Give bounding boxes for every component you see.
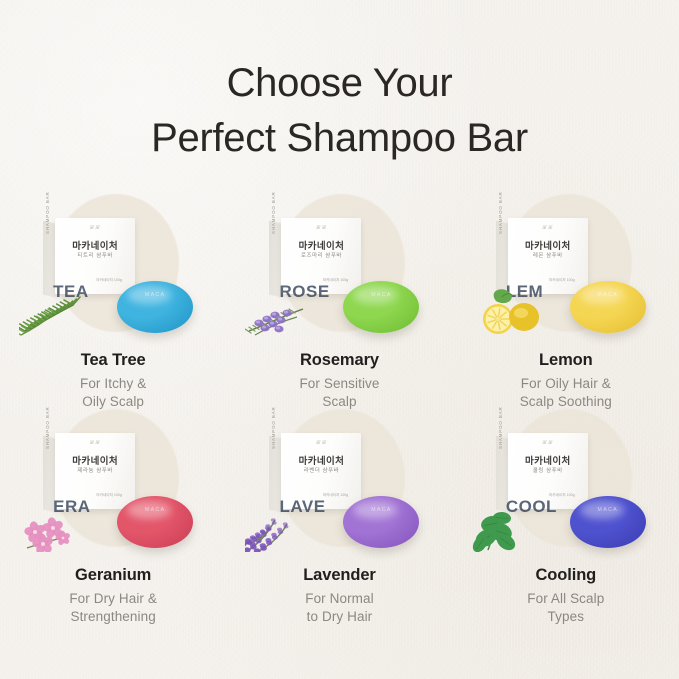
product-caption: Rosemary For Sensitive Scalp bbox=[239, 350, 439, 411]
product-name: Rosemary bbox=[239, 350, 439, 370]
soap-bar-emboss: MACA bbox=[570, 507, 646, 513]
box-variant-label: 레몬 샴푸바 bbox=[508, 251, 588, 259]
product-box: SHAMPOO BAR ꕤꕤ 마카네이처 쿨링 샴푸바 마카네이처 100g C… bbox=[496, 433, 588, 511]
box-variant-word: ERA bbox=[53, 497, 90, 517]
product-benefit-line-1: For Itchy & bbox=[13, 375, 213, 393]
box-info-block: 마카네이처 100g bbox=[92, 278, 126, 283]
brand-logo-mark: ꕤꕤ bbox=[55, 225, 135, 231]
product-image: SHAMPOO BAR ꕤꕤ 마카네이처 티트리 샴푸바 마카네이처 100g … bbox=[13, 200, 213, 341]
product-image: SHAMPOO BAR ꕤꕤ 마카네이처 레몬 샴푸바 마카네이처 100g L… bbox=[466, 200, 666, 341]
product-box: SHAMPOO BAR ꕤꕤ 마카네이처 레몬 샴푸바 마카네이처 100g L… bbox=[496, 218, 588, 296]
box-side-text: SHAMPOO BAR bbox=[271, 178, 276, 234]
product-tile-lemon[interactable]: SHAMPOO BAR ꕤꕤ 마카네이처 레몬 샴푸바 마카네이처 100g L… bbox=[453, 196, 679, 411]
brand-logo-mark: ꕤꕤ bbox=[281, 440, 361, 446]
product-benefit: For Sensitive Scalp bbox=[239, 375, 439, 411]
product-benefit-line-1: For Normal bbox=[239, 590, 439, 608]
soap-bar-emboss: MACA bbox=[343, 507, 419, 513]
box-side-text: SHAMPOO BAR bbox=[45, 178, 50, 234]
brand-name: 마카네이처 bbox=[508, 453, 588, 467]
soap-bar: MACA bbox=[343, 496, 419, 548]
box-variant-label: 쿨링 샴푸바 bbox=[508, 466, 588, 474]
product-box: SHAMPOO BAR ꕤꕤ 마카네이처 로즈마리 샴푸바 마카네이처 100g… bbox=[269, 218, 361, 296]
brand-name: 마카네이처 bbox=[508, 238, 588, 252]
brand-name: 마카네이처 bbox=[281, 238, 361, 252]
soap-bar: MACA bbox=[117, 281, 193, 333]
product-tile-tea-tree[interactable]: SHAMPOO BAR ꕤꕤ 마카네이처 티트리 샴푸바 마카네이처 100g … bbox=[0, 196, 226, 411]
box-side-text: SHAMPOO BAR bbox=[271, 393, 276, 449]
soap-bar: MACA bbox=[570, 496, 646, 548]
product-benefit: For Dry Hair & Strengthening bbox=[13, 590, 213, 626]
product-benefit-line-2: to Dry Hair bbox=[239, 608, 439, 626]
page-title-line-2: Perfect Shampoo Bar bbox=[0, 111, 679, 166]
soap-bar: MACA bbox=[117, 496, 193, 548]
product-name: Cooling bbox=[466, 565, 666, 585]
product-caption: Cooling For All Scalp Types bbox=[466, 565, 666, 626]
box-side-text: SHAMPOO BAR bbox=[498, 393, 503, 449]
product-box: SHAMPOO BAR ꕤꕤ 마카네이처 티트리 샴푸바 마카네이처 100g … bbox=[43, 218, 135, 296]
box-variant-word: LAVE bbox=[279, 497, 325, 517]
soap-bar-emboss: MACA bbox=[117, 292, 193, 298]
product-box: SHAMPOO BAR ꕤꕤ 마카네이처 라벤더 샴푸바 마카네이처 100g … bbox=[269, 433, 361, 511]
box-variant-word: TEA bbox=[53, 282, 89, 302]
box-variant-word: ROSE bbox=[279, 282, 329, 302]
product-tile-geranium[interactable]: SHAMPOO BAR ꕤꕤ 마카네이처 제라늄 샴푸바 마카네이처 100g … bbox=[0, 411, 226, 626]
product-tile-lavender[interactable]: SHAMPOO BAR ꕤꕤ 마카네이처 라벤더 샴푸바 마카네이처 100g … bbox=[226, 411, 452, 626]
product-benefit-line-1: For All Scalp bbox=[466, 590, 666, 608]
box-side-text: SHAMPOO BAR bbox=[45, 393, 50, 449]
product-benefit-line-1: For Oily Hair & bbox=[466, 375, 666, 393]
product-benefit: For Normal to Dry Hair bbox=[239, 590, 439, 626]
product-tile-cooling[interactable]: SHAMPOO BAR ꕤꕤ 마카네이처 쿨링 샴푸바 마카네이처 100g C… bbox=[453, 411, 679, 626]
product-caption: Lemon For Oily Hair & Scalp Soothing bbox=[466, 350, 666, 411]
brand-name: 마카네이처 bbox=[55, 238, 135, 252]
brand-logo-mark: ꕤꕤ bbox=[508, 440, 588, 446]
product-name: Tea Tree bbox=[13, 350, 213, 370]
page-title-line-1: Choose Your bbox=[0, 56, 679, 111]
box-variant-label: 라벤더 샴푸바 bbox=[281, 466, 361, 474]
box-info-block: 마카네이처 100g bbox=[92, 493, 126, 498]
product-caption: Lavender For Normal to Dry Hair bbox=[239, 565, 439, 626]
product-benefit-line-2: Types bbox=[466, 608, 666, 626]
soap-bar-emboss: MACA bbox=[117, 507, 193, 513]
brand-logo-mark: ꕤꕤ bbox=[55, 440, 135, 446]
soap-bar-emboss: MACA bbox=[570, 292, 646, 298]
product-benefit: For Oily Hair & Scalp Soothing bbox=[466, 375, 666, 411]
product-image: SHAMPOO BAR ꕤꕤ 마카네이처 쿨링 샴푸바 마카네이처 100g C… bbox=[466, 415, 666, 556]
product-image: SHAMPOO BAR ꕤꕤ 마카네이처 로즈마리 샴푸바 마카네이처 100g… bbox=[239, 200, 439, 341]
box-variant-label: 제라늄 샴푸바 bbox=[55, 466, 135, 474]
box-variant-label: 티트리 샴푸바 bbox=[55, 251, 135, 259]
soap-bar: MACA bbox=[570, 281, 646, 333]
product-benefit-line-1: For Dry Hair & bbox=[13, 590, 213, 608]
box-variant-label: 로즈마리 샴푸바 bbox=[281, 251, 361, 259]
product-box: SHAMPOO BAR ꕤꕤ 마카네이처 제라늄 샴푸바 마카네이처 100g … bbox=[43, 433, 135, 511]
product-benefit-line-1: For Sensitive bbox=[239, 375, 439, 393]
brand-name: 마카네이처 bbox=[55, 453, 135, 467]
product-image: SHAMPOO BAR ꕤꕤ 마카네이처 제라늄 샴푸바 마카네이처 100g … bbox=[13, 415, 213, 556]
brand-name: 마카네이처 bbox=[281, 453, 361, 467]
box-variant-word: LEM bbox=[506, 282, 543, 302]
product-image: SHAMPOO BAR ꕤꕤ 마카네이처 라벤더 샴푸바 마카네이처 100g … bbox=[239, 415, 439, 556]
brand-logo-mark: ꕤꕤ bbox=[508, 225, 588, 231]
page-title: Choose Your Perfect Shampoo Bar bbox=[0, 56, 679, 166]
soap-bar: MACA bbox=[343, 281, 419, 333]
product-benefit-line-2: Strengthening bbox=[13, 608, 213, 626]
product-tile-rosemary[interactable]: SHAMPOO BAR ꕤꕤ 마카네이처 로즈마리 샴푸바 마카네이처 100g… bbox=[226, 196, 452, 411]
brand-logo-mark: ꕤꕤ bbox=[281, 225, 361, 231]
soap-bar-emboss: MACA bbox=[343, 292, 419, 298]
product-grid: SHAMPOO BAR ꕤꕤ 마카네이처 티트리 샴푸바 마카네이처 100g … bbox=[0, 196, 679, 626]
box-variant-word: COOL bbox=[506, 497, 557, 517]
product-benefit: For Itchy & Oily Scalp bbox=[13, 375, 213, 411]
product-name: Geranium bbox=[13, 565, 213, 585]
product-benefit: For All Scalp Types bbox=[466, 590, 666, 626]
product-name: Lavender bbox=[239, 565, 439, 585]
box-info-block: 마카네이처 100g bbox=[545, 278, 579, 283]
infographic-page: Choose Your Perfect Shampoo Bar SHAMPOO … bbox=[0, 0, 679, 679]
product-caption: Geranium For Dry Hair & Strengthening bbox=[13, 565, 213, 626]
box-side-text: SHAMPOO BAR bbox=[498, 178, 503, 234]
product-caption: Tea Tree For Itchy & Oily Scalp bbox=[13, 350, 213, 411]
product-name: Lemon bbox=[466, 350, 666, 370]
